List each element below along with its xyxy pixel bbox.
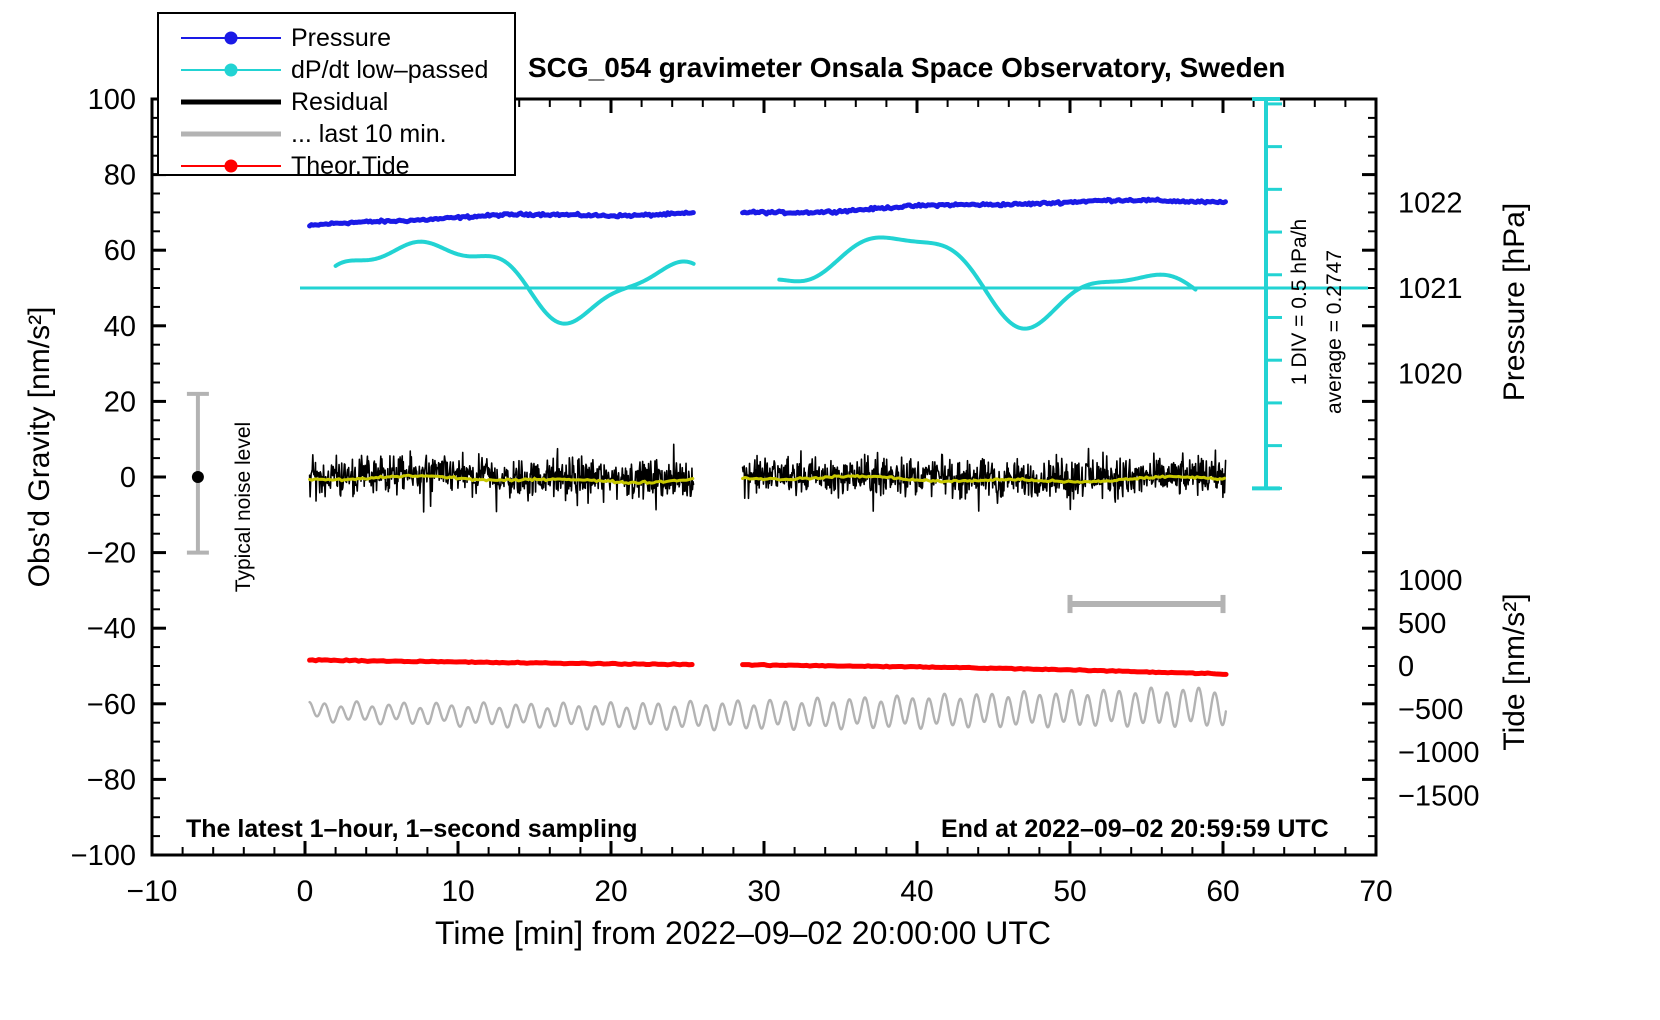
svg-text:−1500: −1500 xyxy=(1398,780,1479,812)
svg-text:60: 60 xyxy=(1206,875,1239,908)
legend-label: Residual xyxy=(291,88,388,117)
svg-text:0: 0 xyxy=(297,875,314,908)
svg-text:60: 60 xyxy=(104,235,136,267)
svg-text:40: 40 xyxy=(900,875,933,908)
page-title: SCG_054 gravimeter Onsala Space Observat… xyxy=(528,52,1285,84)
svg-text:70: 70 xyxy=(1359,875,1392,908)
svg-text:80: 80 xyxy=(104,160,136,192)
annotation-average: average = 0.2747 xyxy=(1323,222,1347,442)
annotation-bottom-left: The latest 1–hour, 1–second sampling xyxy=(186,815,638,844)
legend-item-0[interactable]: Pressure xyxy=(181,24,514,52)
svg-text:100: 100 xyxy=(88,84,136,116)
y-axis-right-pressure-title: Pressure [hPa] xyxy=(1498,152,1532,452)
svg-text:500: 500 xyxy=(1398,608,1446,640)
svg-text:−80: −80 xyxy=(87,764,136,796)
legend-label: ... last 10 min. xyxy=(291,120,447,149)
svg-text:−10: −10 xyxy=(127,875,178,908)
legend-item-3[interactable]: ... last 10 min. xyxy=(181,120,514,148)
legend: PressuredP/dt low–passedResidual... last… xyxy=(157,12,516,176)
svg-text:10: 10 xyxy=(441,875,474,908)
svg-text:−20: −20 xyxy=(87,538,136,570)
x-axis-title: Time [min] from 2022–09–02 20:00:00 UTC xyxy=(435,915,1051,952)
annotation-scale-div: 1 DIV = 0.5 hPa/h xyxy=(1288,192,1312,412)
svg-text:1020: 1020 xyxy=(1398,358,1463,390)
svg-text:−500: −500 xyxy=(1398,694,1463,726)
svg-text:−60: −60 xyxy=(87,689,136,721)
svg-text:−40: −40 xyxy=(87,613,136,645)
annotation-noise-level: Typical noise level xyxy=(232,397,256,617)
svg-text:−1000: −1000 xyxy=(1398,737,1479,769)
svg-text:1022: 1022 xyxy=(1398,188,1463,220)
annotation-bottom-right: End at 2022–09–02 20:59:59 UTC xyxy=(941,815,1329,844)
svg-text:0: 0 xyxy=(1398,651,1414,683)
svg-text:1000: 1000 xyxy=(1398,565,1463,597)
svg-text:−100: −100 xyxy=(71,840,136,872)
legend-item-2[interactable]: Residual xyxy=(181,88,514,116)
svg-text:30: 30 xyxy=(747,875,780,908)
y-axis-right-tide-title: Tide [nm/s²] xyxy=(1498,532,1532,812)
legend-label: dP/dt low–passed xyxy=(291,56,488,85)
legend-item-4[interactable]: Theor.Tide xyxy=(181,152,514,180)
svg-text:20: 20 xyxy=(594,875,627,908)
svg-text:20: 20 xyxy=(104,386,136,418)
svg-text:40: 40 xyxy=(104,311,136,343)
svg-text:50: 50 xyxy=(1053,875,1086,908)
svg-text:0: 0 xyxy=(120,462,136,494)
svg-text:1021: 1021 xyxy=(1398,273,1463,305)
legend-label: Theor.Tide xyxy=(291,152,410,181)
legend-label: Pressure xyxy=(291,24,391,53)
y-axis-title: Obs'd Gravity [nm/s²] xyxy=(23,297,57,597)
legend-item-1[interactable]: dP/dt low–passed xyxy=(181,56,514,84)
